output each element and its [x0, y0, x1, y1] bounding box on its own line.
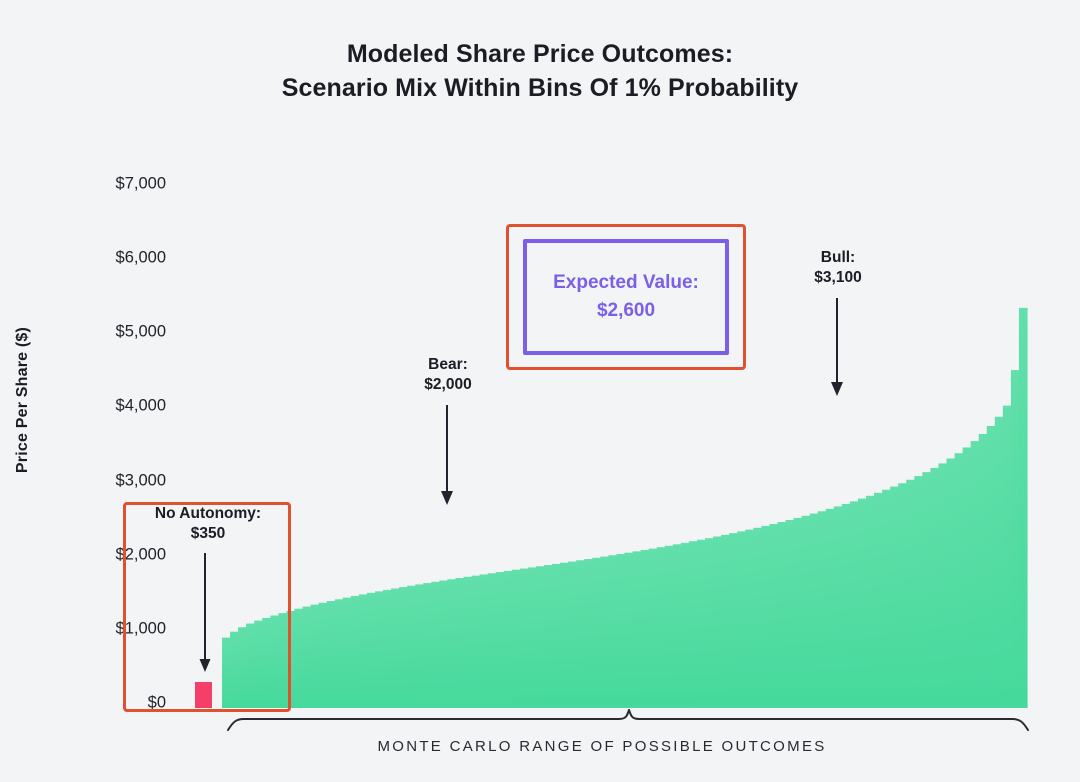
outcome-bar	[914, 476, 923, 708]
outcome-bar	[1011, 370, 1020, 708]
outcome-bar	[761, 526, 770, 708]
outcome-bar	[600, 557, 609, 708]
outcome-bar	[447, 579, 456, 708]
y-tick-3000: $3,000	[74, 472, 166, 491]
outcome-bar	[560, 563, 569, 708]
outcome-bar	[826, 509, 835, 708]
outcome-bar	[592, 558, 601, 708]
bear-label: Bear:	[428, 356, 468, 373]
outcome-bar	[351, 596, 360, 708]
outcome-bar	[802, 516, 811, 708]
outcome-bar	[335, 599, 344, 708]
outcome-bar	[729, 533, 738, 708]
outcome-bar	[697, 540, 706, 708]
outcome-bar	[938, 463, 947, 708]
outcome-bar	[584, 559, 593, 708]
outcome-bar	[488, 573, 497, 708]
y-tick-4000: $4,000	[74, 397, 166, 416]
bull-label: Bull:	[821, 249, 855, 266]
outcome-bar	[367, 593, 376, 708]
outcome-bar	[995, 417, 1004, 708]
outcome-bar	[407, 586, 416, 708]
outcome-bar	[327, 601, 336, 708]
outcome-bar	[890, 487, 899, 708]
outcome-bar	[850, 501, 859, 708]
outcome-bar	[794, 518, 803, 708]
expected-value-inner-box: Expected Value: $2,600	[523, 239, 729, 355]
x-axis-caption: MONTE CARLO RANGE OF POSSIBLE OUTCOMES	[176, 738, 1028, 755]
outcome-bar	[681, 543, 690, 708]
outcome-bar	[930, 468, 939, 708]
outcome-bar	[769, 524, 778, 708]
outcome-bar	[383, 590, 392, 708]
outcome-bar	[343, 598, 352, 708]
y-tick-6000: $6,000	[74, 249, 166, 268]
outcome-bar	[786, 520, 795, 708]
outcome-bar	[842, 504, 851, 708]
outcome-bar	[689, 541, 698, 708]
chart-canvas: Modeled Share Price Outcomes: Scenario M…	[0, 0, 1080, 782]
outcome-bar	[641, 550, 650, 708]
outcome-bar	[1003, 406, 1012, 708]
outcome-bar	[874, 493, 883, 708]
outcome-bar	[705, 538, 714, 708]
outcome-bar	[480, 574, 489, 708]
outcome-bar	[882, 490, 891, 708]
outcome-bar	[947, 459, 956, 708]
outcome-bar	[906, 480, 915, 708]
outcome-bar	[391, 588, 400, 708]
outcome-bar	[375, 591, 384, 708]
outcome-bar	[303, 607, 312, 708]
outcome-bar	[673, 544, 682, 708]
outcome-bar	[737, 531, 746, 708]
outcome-bar	[608, 555, 617, 708]
outcome-bar	[721, 535, 730, 708]
outcome-bar	[399, 587, 408, 708]
outcome-bar	[657, 547, 666, 708]
outcome-bar	[319, 603, 328, 708]
outcome-bar	[713, 537, 722, 708]
y-tick-7000: $7,000	[74, 175, 166, 194]
outcome-bar	[431, 582, 440, 708]
outcome-bar	[971, 441, 980, 708]
outcome-bar	[810, 514, 819, 708]
outcome-bar	[665, 546, 674, 708]
outcome-bar	[439, 581, 448, 708]
outcome-bar	[520, 569, 529, 708]
outcome-bar	[552, 564, 561, 708]
no-autonomy-value: $350	[128, 524, 288, 544]
outcome-bar	[544, 565, 553, 708]
outcome-bar	[955, 453, 964, 708]
y-axis-title: Price Per Share ($)	[14, 270, 32, 530]
outcome-bar	[834, 506, 843, 708]
bull-callout-label: Bull: $3,100	[776, 248, 900, 289]
outcome-bar	[311, 605, 320, 708]
x-range-brace	[228, 710, 1028, 730]
outcome-bar	[777, 522, 786, 708]
outcome-bar	[455, 578, 464, 708]
outcome-bar	[979, 434, 988, 708]
y-tick-5000: $5,000	[74, 323, 166, 342]
outcome-bar	[464, 577, 473, 708]
expected-value-amount: $2,600	[597, 297, 655, 325]
outcome-bar	[922, 472, 931, 708]
outcome-bar	[359, 594, 368, 708]
outcome-bar	[576, 560, 585, 708]
outcome-bar	[423, 583, 432, 708]
outcome-bar	[415, 584, 424, 708]
outcome-bar	[866, 496, 875, 708]
expected-value-callout-box: Expected Value: $2,600	[506, 224, 746, 370]
outcome-bar	[753, 528, 762, 708]
no-autonomy-callout-label: No Autonomy: $350	[128, 504, 288, 545]
chart-title-line1: Modeled Share Price Outcomes:	[347, 40, 733, 68]
outcome-bar	[504, 571, 513, 708]
outcome-bar	[568, 562, 577, 709]
outcome-bar	[528, 567, 537, 708]
outcome-bar	[536, 566, 545, 708]
outcome-bar	[858, 499, 867, 708]
outcome-bar	[745, 530, 754, 708]
outcome-bar	[963, 447, 972, 708]
outcome-bar	[472, 576, 481, 708]
expected-value-label: Expected Value:	[553, 269, 699, 297]
outcome-bar	[898, 483, 907, 708]
outcome-bar	[1019, 308, 1028, 708]
bear-value: $2,000	[386, 375, 510, 395]
bear-callout-label: Bear: $2,000	[386, 355, 510, 396]
outcome-bar	[633, 551, 642, 708]
bull-value: $3,100	[776, 268, 900, 288]
outcome-bar	[987, 426, 996, 708]
outcome-bar	[649, 549, 658, 708]
outcome-bar	[818, 511, 827, 708]
outcome-bar	[512, 570, 521, 708]
no-autonomy-label: No Autonomy:	[155, 505, 261, 522]
outcome-bar	[294, 609, 303, 708]
outcome-bar	[625, 553, 634, 708]
outcome-bar	[616, 554, 625, 708]
outcome-bar	[496, 572, 505, 708]
